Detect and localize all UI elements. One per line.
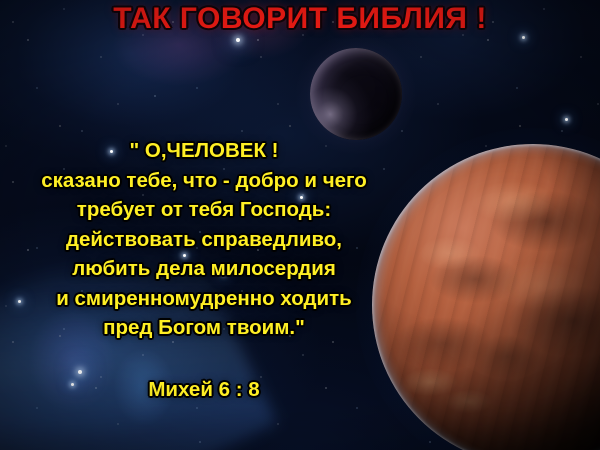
bright-star	[78, 370, 82, 374]
crescent-moon	[310, 48, 402, 140]
scripture-citation: Михей 6 : 8	[4, 378, 404, 402]
verse-line: любить дела милосердия	[4, 254, 404, 284]
verse-line: и смиренномудренно ходить	[4, 284, 404, 314]
verse-line: действовать справедливо,	[4, 225, 404, 255]
verse-line: сказано тебе, что - добро и чего	[4, 166, 404, 196]
poster-headline: ТАК ГОВОРИТ БИБЛИЯ !	[0, 2, 600, 36]
verse-line: " О,ЧЕЛОВЕК !	[4, 136, 404, 166]
space-poster: ТАК ГОВОРИТ БИБЛИЯ ! " О,ЧЕЛОВЕК ! сказа…	[0, 0, 600, 450]
bright-star	[522, 36, 525, 39]
verse-line: требует от тебя Господь:	[4, 195, 404, 225]
verse-line: пред Богом твоим."	[4, 313, 404, 343]
bible-verse-text: " О,ЧЕЛОВЕК ! сказано тебе, что - добро …	[4, 136, 404, 343]
bright-star	[565, 118, 568, 121]
bright-star	[236, 38, 240, 42]
